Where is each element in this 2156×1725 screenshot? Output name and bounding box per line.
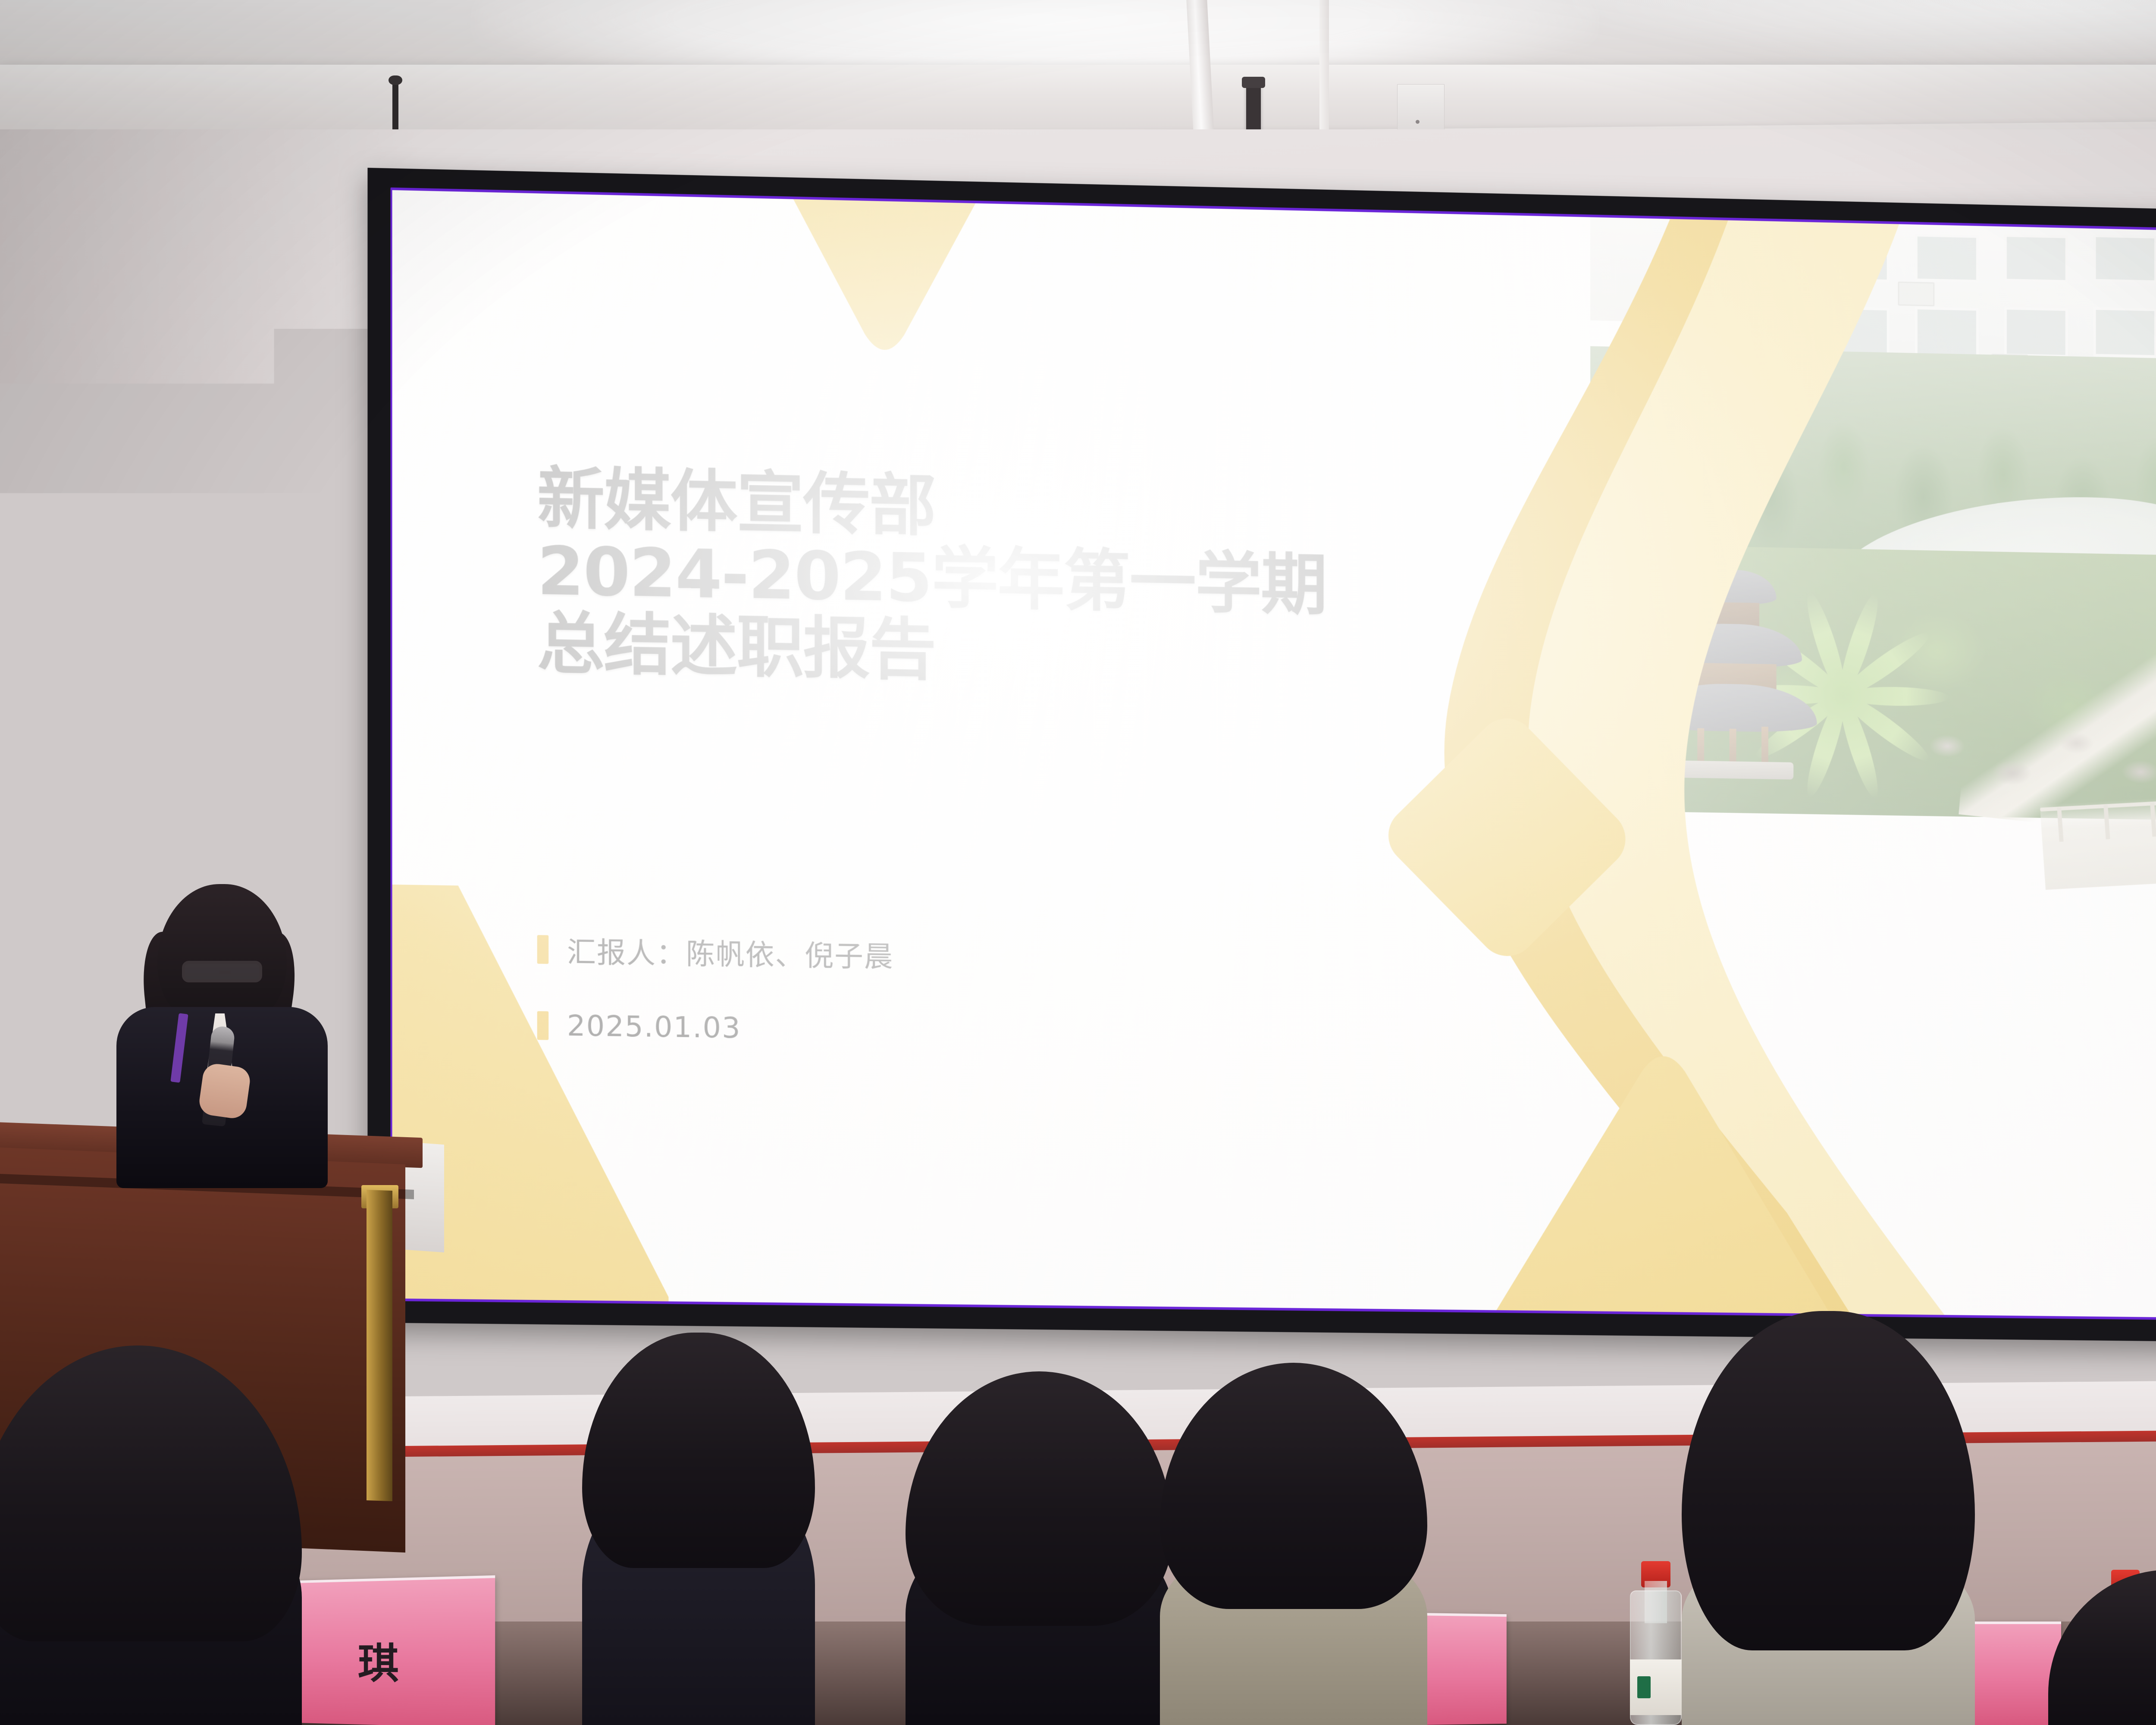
slide-text-layer: 新媒体宣传部 2024-2025学年第一学期 总结述职报告 汇报人：陈帆依、倪子… — [392, 190, 2156, 1318]
projection-screen-frame: 新媒体宣传部 2024-2025学年第一学期 总结述职报告 汇报人：陈帆依、倪子… — [367, 168, 2156, 1342]
water-bottle-2 — [1630, 1561, 1682, 1725]
slide-meta-row-date: 2025.01.03 — [537, 1009, 894, 1047]
slide-title: 新媒体宣传部 2024-2025学年第一学期 总结述职报告 — [537, 463, 1326, 694]
screen-hook-left-icon — [392, 80, 398, 132]
podium-left-post — [367, 1190, 392, 1501]
name-card-pink: 琪 — [273, 1575, 495, 1725]
slide-date: 2025.01.03 — [567, 1009, 741, 1045]
ceiling-light-glow-secondary — [1552, 0, 2156, 65]
slide-meta-block: 汇报人：陈帆依、倪子晨 2025.01.03 — [537, 928, 894, 1085]
microphone-stem — [1490, 1617, 1497, 1725]
presentation-slide[interactable]: 新媒体宣传部 2024-2025学年第一学期 总结述职报告 汇报人：陈帆依、倪子… — [392, 190, 2156, 1318]
audience-head-6 — [2048, 1570, 2156, 1725]
presenter-left-hand — [197, 1062, 252, 1120]
meta-bullet-bar — [537, 935, 548, 964]
wall-control-box[interactable] — [1397, 84, 1445, 132]
ceiling-rail-secondary — [1319, 0, 1329, 129]
ceiling-beam — [0, 65, 2156, 134]
presenter-left — [99, 884, 341, 1186]
audience-head-4 — [1160, 1363, 1427, 1725]
presenter-left-glasses-icon — [182, 961, 262, 982]
screenshot-stage: 新媒体宣传部 2024-2025学年第一学期 总结述职报告 汇报人：陈帆依、倪子… — [0, 0, 2156, 1725]
audience-head-5 — [1682, 1311, 1975, 1725]
audience-head-2 — [582, 1333, 815, 1725]
name-card-text: 琪 — [273, 1629, 495, 1691]
audience-head-3 — [906, 1371, 1173, 1725]
meta-bullet-bar — [537, 1011, 548, 1040]
wall-control-indicator — [1416, 120, 1420, 124]
slide-meta-row-presenters: 汇报人：陈帆依、倪子晨 — [537, 928, 894, 975]
slide-presenters: 汇报人：陈帆依、倪子晨 — [567, 929, 894, 975]
microphone-stand-foreground — [1479, 1600, 1509, 1725]
audience-head-1 — [0, 1345, 302, 1725]
presenter-left-hair — [157, 884, 287, 1026]
